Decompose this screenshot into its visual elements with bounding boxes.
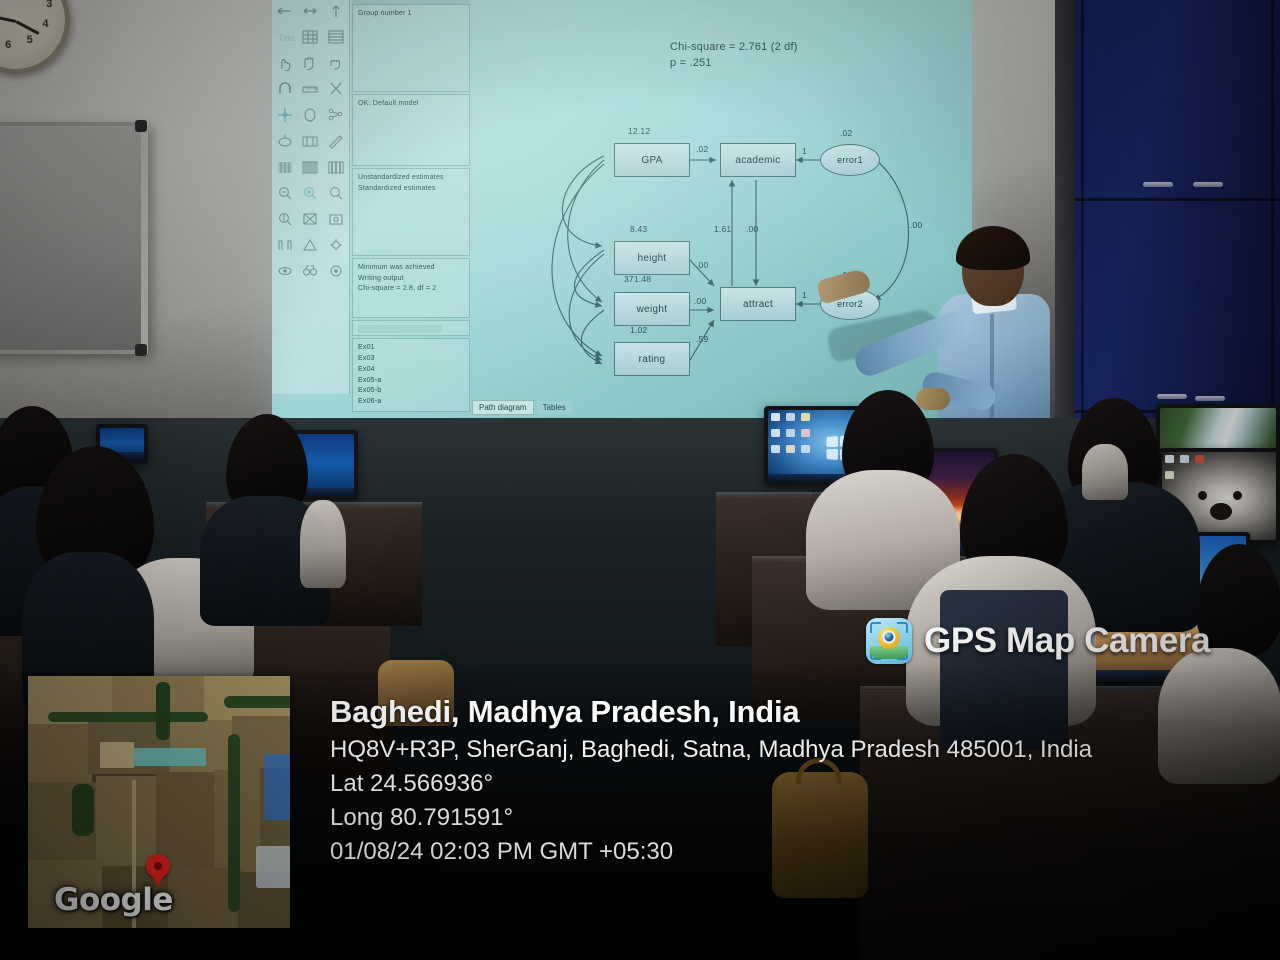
chi-square-value: Chi-square = 2.761 (2 df) <box>670 40 798 56</box>
amos-view-tabs[interactable]: Path diagram Tables <box>472 398 592 416</box>
file-list-item[interactable]: Ex06-a <box>358 397 464 408</box>
arrow-leftright-icon[interactable] <box>301 3 319 19</box>
clock-minute-hand <box>0 12 16 23</box>
table-list-icon[interactable] <box>327 29 345 45</box>
search-input[interactable] <box>358 325 442 333</box>
zoom-reset-icon[interactable] <box>327 185 345 201</box>
file-list-item[interactable]: Ex03 <box>358 354 464 365</box>
file-list-item[interactable]: Ex05-a <box>358 376 464 387</box>
file-list-item[interactable]: Ex01 <box>358 343 464 354</box>
presenter-lower-hand <box>916 388 950 410</box>
amos-status-panel: Minimum was achieved Writing output Chi-… <box>352 258 470 318</box>
path-label-height-attract: .00 <box>696 260 708 270</box>
gear-icon[interactable] <box>327 237 345 253</box>
geotag-latitude: Lat 24.566936° <box>330 767 1230 801</box>
amos-file-list[interactable]: Ex01 Ex03 Ex04 Ex05-a Ex05-b Ex06-a <box>352 338 470 412</box>
presenter <box>900 228 1100 448</box>
status-writing: Writing output <box>358 274 464 285</box>
table-grid-icon[interactable] <box>301 29 319 45</box>
error1-variance-label: .02 <box>840 128 852 138</box>
amos-estimates-panel[interactable]: Unstandardized estimates Standardized es… <box>352 168 470 256</box>
path-label-academic-attract: 1.61 <box>714 224 731 234</box>
preserve-icon[interactable] <box>327 211 345 227</box>
geotag-address: HQ8V+R3P, SherGanj, Baghedi, Satna, Madh… <box>330 734 1230 766</box>
status-chisquare: Chi-square = 2.8, df = 2 <box>358 284 464 295</box>
tab-tables[interactable]: Tables <box>537 401 572 414</box>
move-cross-icon[interactable] <box>276 107 294 123</box>
geotag-timestamp: 01/08/24 02:03 PM GMT +05:30 <box>330 835 1230 869</box>
zoom-out-icon[interactable] <box>276 185 294 201</box>
weight-variance-label: 371.48 <box>624 274 651 284</box>
scissors-icon[interactable] <box>327 81 345 97</box>
geotag-place: Baghedi, Madhya Pradesh, India <box>330 694 1230 731</box>
eye-icon[interactable] <box>276 263 294 279</box>
node-weight: weight <box>614 292 690 326</box>
file-list-item[interactable]: Ex04 <box>358 365 464 376</box>
node-rating: rating <box>614 342 690 376</box>
photo-canvas: 2 3 4 5 6 Title <box>0 0 1280 960</box>
layout-icon[interactable] <box>301 211 319 227</box>
gps-map-camera-watermark: GPS Map Camera <box>866 618 1210 664</box>
student-right-1-shirt <box>1082 444 1128 500</box>
wall-cabinet <box>1075 0 1280 420</box>
tab-path-diagram[interactable]: Path diagram <box>472 400 534 415</box>
cabinet-handle <box>1143 182 1173 187</box>
node-height: height <box>614 241 690 275</box>
rotate-oval-icon[interactable] <box>301 107 319 123</box>
file-list-item[interactable]: Ex05-b <box>358 386 464 397</box>
loop-icon[interactable] <box>276 133 294 149</box>
columns-icon[interactable] <box>301 159 319 175</box>
path-label-error1-loading: 1 <box>802 146 807 156</box>
amos-search-field[interactable] <box>352 320 470 336</box>
path-label-rating-attract: .59 <box>696 334 708 344</box>
cabinet-handle <box>1195 396 1225 401</box>
p-value: p = .251 <box>670 56 798 72</box>
group-item[interactable]: Group number 1 <box>358 9 464 20</box>
triangle-icon[interactable] <box>301 237 319 253</box>
node-gpa: GPA <box>614 143 690 177</box>
pen-icon[interactable] <box>327 133 345 149</box>
ruler-icon[interactable] <box>301 81 319 97</box>
path-label-gpa-academic: .02 <box>696 144 708 154</box>
amos-toolbar[interactable]: Title <box>272 0 350 394</box>
gpa-variance-label: 12.12 <box>628 126 650 136</box>
status-minimum: Minimum was achieved <box>358 263 464 274</box>
desktop-icons[interactable] <box>1165 455 1208 485</box>
bars-icon[interactable] <box>327 159 345 175</box>
cabinet-handle <box>1193 182 1223 187</box>
gps-map-camera-logo-icon <box>866 618 912 664</box>
target-icon[interactable] <box>327 263 345 279</box>
path-label-weight-attract: .00 <box>694 296 706 306</box>
model-item[interactable]: OK: Default model <box>358 99 464 110</box>
height-variance-label: 8.43 <box>630 224 647 234</box>
cabinet-handle <box>1157 394 1187 399</box>
desktop-icons[interactable] <box>771 413 814 459</box>
path-label-error2-loading: 1 <box>802 290 807 300</box>
estimates-option-standardized[interactable]: Standardized estimates <box>358 184 464 195</box>
arrow-left-icon[interactable] <box>276 3 294 19</box>
caliper-icon[interactable] <box>276 237 294 253</box>
map-location-pin <box>146 854 170 878</box>
google-watermark: Google <box>54 882 173 918</box>
watermark-app-name: GPS Map Camera <box>924 621 1210 661</box>
title-icon[interactable]: Title <box>276 29 294 45</box>
svg-text:Title: Title <box>278 33 294 43</box>
node-attract: attract <box>720 287 796 321</box>
presenter-hair <box>956 226 1030 270</box>
hand-point-icon[interactable] <box>276 55 294 71</box>
matrix-icon[interactable] <box>276 159 294 175</box>
binocular-icon[interactable] <box>301 263 319 279</box>
variables-icon[interactable] <box>327 107 345 123</box>
zoom-in-icon[interactable] <box>301 185 319 201</box>
rating-variance-label: 1.02 <box>630 325 647 335</box>
chi-square-annotation: Chi-square = 2.761 (2 df) p = .251 <box>670 40 798 72</box>
hand-move-icon[interactable] <box>301 55 319 71</box>
node-academic: academic <box>720 143 796 177</box>
duplicate-icon[interactable] <box>301 133 319 149</box>
amos-model-panel[interactable]: OK: Default model <box>352 94 470 166</box>
amos-groups-panel[interactable]: Group number 1 <box>352 4 470 92</box>
path-label-attract-academic: .00 <box>746 224 758 234</box>
geotag-info-block: Baghedi, Madhya Pradesh, India HQ8V+R3P,… <box>330 694 1230 869</box>
magnet-icon[interactable] <box>276 81 294 97</box>
node-error1: error1 <box>820 144 880 176</box>
hand-grab-icon[interactable] <box>327 55 345 71</box>
estimates-option-unstandardized[interactable]: Unstandardized estimates <box>358 173 464 184</box>
student-left-3-shirt <box>300 500 346 588</box>
arrow-up-icon[interactable] <box>327 3 345 19</box>
geotag-longitude: Long 80.791591° <box>330 801 1230 835</box>
map-thumbnail[interactable]: Google <box>28 676 290 928</box>
page-icon[interactable] <box>276 211 294 227</box>
whiteboard <box>0 122 148 354</box>
